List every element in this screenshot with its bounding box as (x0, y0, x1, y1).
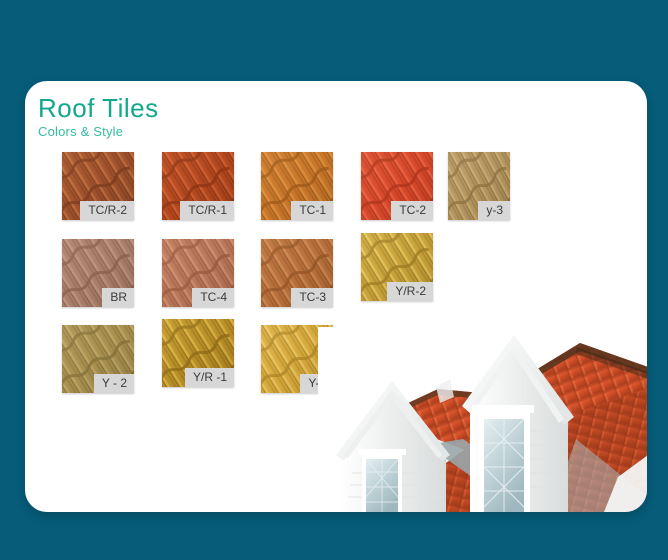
tile-swatch-label: Y/R-2 (387, 282, 433, 301)
page-title: Roof Tiles (38, 95, 159, 121)
tile-swatch[interactable]: y-3 (448, 152, 510, 220)
tile-swatch[interactable]: TC-3 (261, 239, 333, 307)
tile-swatch[interactable]: TC-1 (261, 152, 333, 220)
tile-swatch[interactable]: TC/R-2 (62, 152, 134, 220)
tile-swatch[interactable]: Y/R -1 (162, 319, 234, 387)
tile-swatch-label: y-3 (478, 201, 510, 220)
tile-swatch[interactable]: Y/R-2 (361, 233, 433, 301)
card-header: Roof Tiles Colors & Style (38, 95, 159, 138)
roof-tiles-card: Roof Tiles Colors & Style TC/R-2TC/R-1TC… (25, 81, 647, 512)
page-subtitle: Colors & Style (38, 125, 159, 138)
tile-swatch-label: BR (102, 288, 134, 307)
tile-swatch[interactable]: BR (62, 239, 134, 307)
tile-swatch[interactable]: TC-2 (361, 152, 433, 220)
tile-swatch-label: TC-1 (291, 201, 333, 220)
tile-swatch[interactable]: TC/R-1 (162, 152, 234, 220)
tile-swatch-label: TC/R-1 (180, 201, 234, 220)
tile-swatch-label: TC-4 (192, 288, 234, 307)
tile-swatch-label: TC-3 (291, 288, 333, 307)
tile-swatch-label: Y/R -1 (185, 368, 234, 387)
roof-photo (318, 327, 647, 512)
tile-swatch-label: Y - 2 (94, 374, 134, 393)
tile-swatch-label: TC/R-2 (80, 201, 134, 220)
tile-swatch[interactable]: TC-4 (162, 239, 234, 307)
page-root: Roof Tiles Colors & Style TC/R-2TC/R-1TC… (0, 0, 668, 560)
tile-swatch-label: TC-2 (391, 201, 433, 220)
tile-swatch[interactable]: Y - 2 (62, 325, 134, 393)
